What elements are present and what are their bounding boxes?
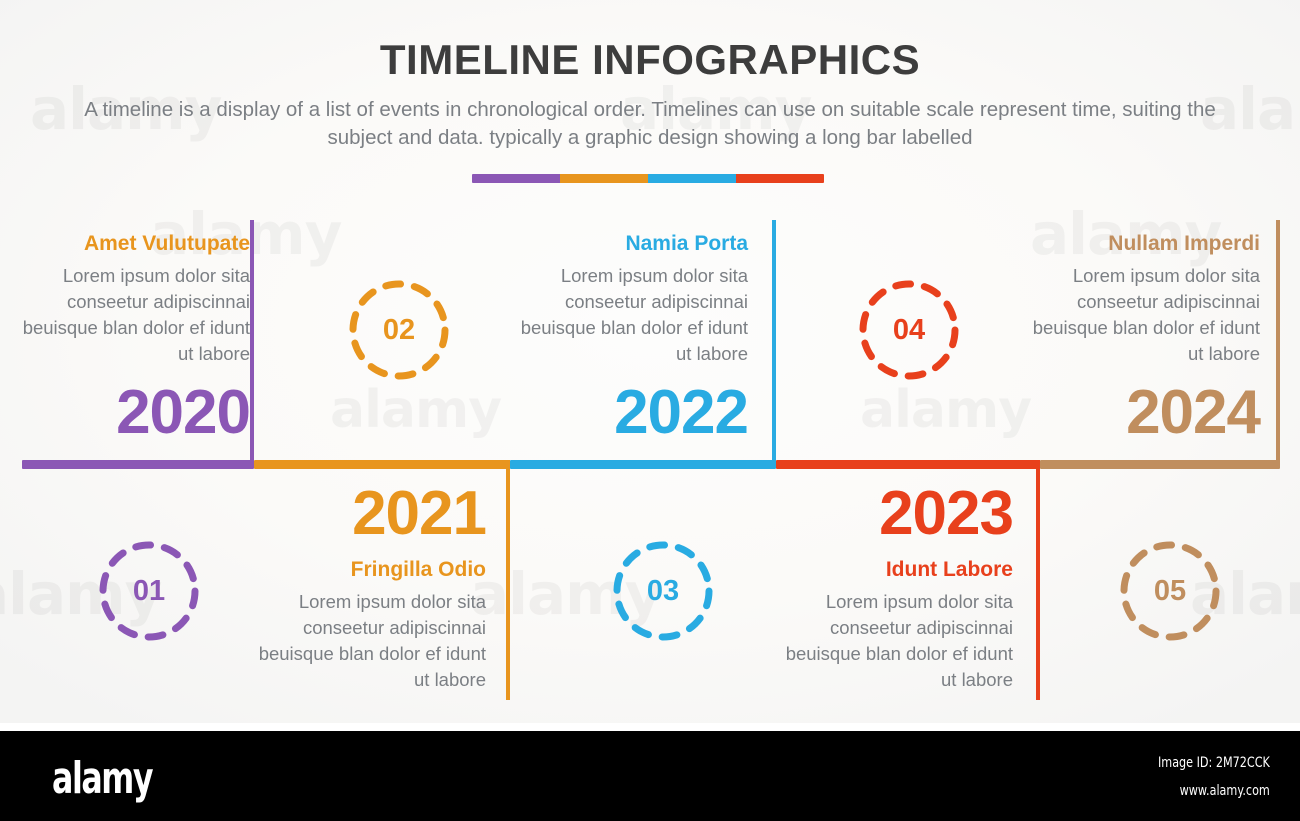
timeline-number-4: 04 bbox=[893, 316, 925, 345]
timeline-body-2: Lorem ipsum dolor sita conseetur adipisc… bbox=[258, 589, 486, 693]
timeline-number-2: 02 bbox=[383, 316, 415, 345]
timeline-divider-3 bbox=[772, 220, 776, 465]
timeline-block-2[interactable]: 2021 Fringilla Odio Lorem ipsum dolor si… bbox=[258, 482, 486, 693]
infographic-canvas: alamyalamyalamyalamyalamyalamyalamyalamy… bbox=[0, 0, 1300, 730]
timeline-number-3: 03 bbox=[647, 577, 679, 606]
timeline-year-4: 2023 bbox=[785, 482, 1013, 546]
timeline-body-5: Lorem ipsum dolor sita conseetur adipisc… bbox=[1032, 263, 1260, 367]
footer-bar: alamy Image ID: 2M72CCK www.alamy.com bbox=[0, 731, 1300, 821]
timeline-block-3[interactable]: Namia Porta Lorem ipsum dolor sita conse… bbox=[520, 232, 748, 445]
timeline-marker-1[interactable]: 01 bbox=[97, 539, 201, 643]
footer-url[interactable]: www.alamy.com bbox=[1180, 783, 1270, 799]
timeline-year-3: 2022 bbox=[520, 381, 748, 445]
timeline-number-5: 05 bbox=[1154, 577, 1186, 606]
timeline-block-1[interactable]: Amet Vulutupate Lorem ipsum dolor sita c… bbox=[22, 232, 250, 445]
timeline-year-5: 2024 bbox=[1032, 381, 1260, 445]
infographic-stage: alamyalamyalamyalamyalamyalamyalamyalamy… bbox=[0, 0, 1300, 821]
timeline-segment-2 bbox=[254, 460, 510, 469]
timeline-year-2: 2021 bbox=[258, 482, 486, 546]
timeline-segment-5 bbox=[1040, 460, 1280, 469]
timeline-year-1: 2020 bbox=[22, 381, 250, 445]
footer-image-id: Image ID: 2M72CCK bbox=[1158, 755, 1270, 771]
timeline-marker-4[interactable]: 04 bbox=[857, 278, 961, 382]
timeline-heading-1: Amet Vulutupate bbox=[22, 232, 250, 256]
alamy-logo: alamy bbox=[52, 753, 152, 804]
timeline-number-1: 01 bbox=[133, 577, 165, 606]
timeline-body-3: Lorem ipsum dolor sita conseetur adipisc… bbox=[520, 263, 748, 367]
timeline-divider-2 bbox=[506, 460, 510, 700]
timeline-heading-4: Idunt Labore bbox=[785, 558, 1013, 582]
timeline-heading-3: Namia Porta bbox=[520, 232, 748, 256]
footer-divider bbox=[0, 723, 1300, 731]
timeline-divider-4 bbox=[1036, 460, 1040, 700]
timeline-segment-3 bbox=[510, 460, 776, 469]
timeline-divider-1 bbox=[250, 220, 254, 465]
timeline-block-4[interactable]: 2023 Idunt Labore Lorem ipsum dolor sita… bbox=[785, 482, 1013, 693]
timeline-marker-5[interactable]: 05 bbox=[1118, 539, 1222, 643]
timeline-heading-5: Nullam Imperdi bbox=[1032, 232, 1260, 256]
timeline-body-4: Lorem ipsum dolor sita conseetur adipisc… bbox=[785, 589, 1013, 693]
timeline-body-1: Lorem ipsum dolor sita conseetur adipisc… bbox=[22, 263, 250, 367]
timeline-heading-2: Fringilla Odio bbox=[258, 558, 486, 582]
timeline-marker-3[interactable]: 03 bbox=[611, 539, 715, 643]
timeline-segment-1 bbox=[22, 460, 254, 469]
timeline-divider-5 bbox=[1276, 220, 1280, 465]
timeline-block-5[interactable]: Nullam Imperdi Lorem ipsum dolor sita co… bbox=[1032, 232, 1260, 445]
timeline-marker-2[interactable]: 02 bbox=[347, 278, 451, 382]
timeline-segment-4 bbox=[776, 460, 1040, 469]
